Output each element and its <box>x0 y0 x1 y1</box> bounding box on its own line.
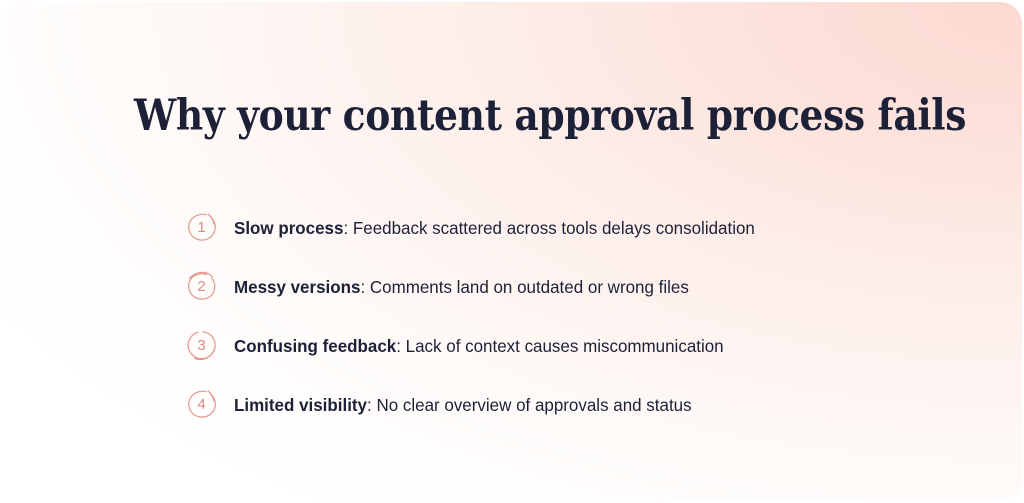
circle-number-icon: 3 <box>185 329 219 363</box>
circle-number-icon: 1 <box>185 211 219 245</box>
list-item-label: Confusing feedback <box>234 336 396 356</box>
badge-number: 2 <box>185 270 219 304</box>
list-item-label: Messy versions <box>234 277 360 297</box>
badge-number: 4 <box>185 388 219 422</box>
list-item-text: Confusing feedback: Lack of context caus… <box>234 334 724 358</box>
list-item-separator: : <box>360 277 369 297</box>
list-item-separator: : <box>396 336 405 356</box>
list-item-description: Comments land on outdated or wrong files <box>370 277 689 297</box>
circle-number-icon: 4 <box>185 388 219 422</box>
list-item-text: Messy versions: Comments land on outdate… <box>234 275 689 299</box>
reasons-list: 1 Slow process: Feedback scattered acros… <box>185 198 985 434</box>
list-item-separator: : <box>367 395 376 415</box>
list-item-description: Lack of context causes miscommunication <box>406 336 724 356</box>
list-item: 1 Slow process: Feedback scattered acros… <box>185 198 985 257</box>
list-item-description: No clear overview of approvals and statu… <box>376 395 691 415</box>
page-title: Why your content approval process fails <box>134 88 966 144</box>
list-item-description: Feedback scattered across tools delays c… <box>353 218 755 238</box>
list-item-label: Slow process <box>234 218 343 238</box>
badge-number: 1 <box>185 211 219 245</box>
list-item-text: Slow process: Feedback scattered across … <box>234 216 755 240</box>
list-item-label: Limited visibility <box>234 395 367 415</box>
list-item: 4 Limited visibility: No clear overview … <box>185 375 985 434</box>
content-card: Why your content approval process fails … <box>2 2 1022 501</box>
list-item: 3 Confusing feedback: Lack of context ca… <box>185 316 985 375</box>
list-item-text: Limited visibility: No clear overview of… <box>234 393 692 417</box>
list-item-separator: : <box>343 218 352 238</box>
circle-number-icon: 2 <box>185 270 219 304</box>
badge-number: 3 <box>185 329 219 363</box>
list-item: 2 Messy versions: Comments land on outda… <box>185 257 985 316</box>
